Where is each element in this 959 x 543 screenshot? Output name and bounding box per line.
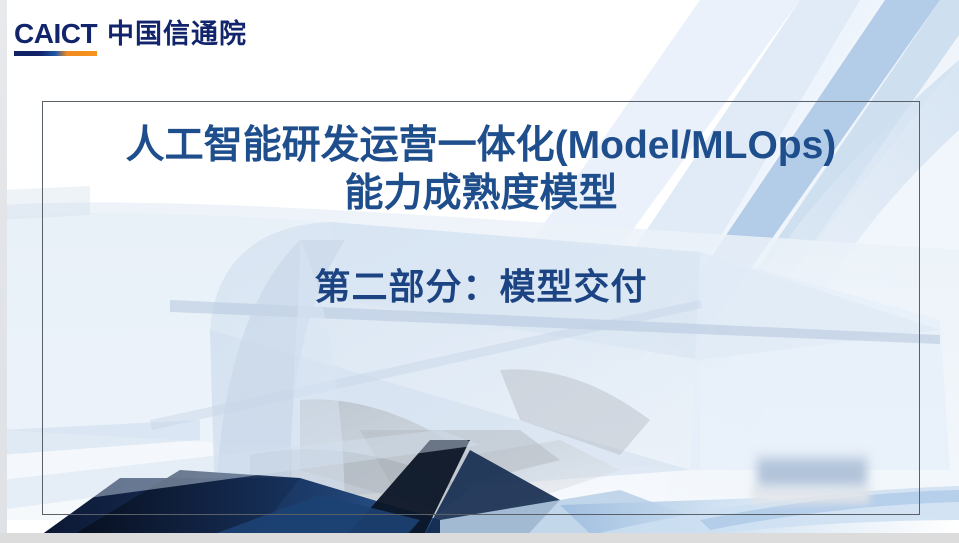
slide-section-subtitle: 第二部分：模型交付 (42, 217, 920, 308)
left-edge-strip (0, 0, 7, 543)
slide-main-title: 人工智能研发运营一体化(Model/MLOps) 能力成熟度模型 (42, 122, 920, 217)
slide-main-title-line1: 人工智能研发运营一体化(Model/MLOps) (42, 122, 920, 170)
caict-logo-chinese-name: 中国信通院 (107, 21, 247, 48)
caict-logo-text: CAICT (14, 20, 97, 48)
slide-main-title-line2: 能力成熟度模型 (42, 170, 920, 218)
caict-logo-mark: CAICT (14, 20, 97, 56)
footer-strip (0, 533, 959, 543)
slide-title-group: 人工智能研发运营一体化(Model/MLOps) 能力成熟度模型 第二部分：模型… (42, 122, 920, 308)
presentation-slide: CAICT 中国信通院 人工智能研发运营一体化(Model/MLOps) 能力成… (0, 0, 959, 543)
redacted-blurred-block (757, 453, 867, 495)
caict-logo: CAICT 中国信通院 (14, 20, 247, 56)
caict-logo-underline-icon (14, 51, 97, 56)
